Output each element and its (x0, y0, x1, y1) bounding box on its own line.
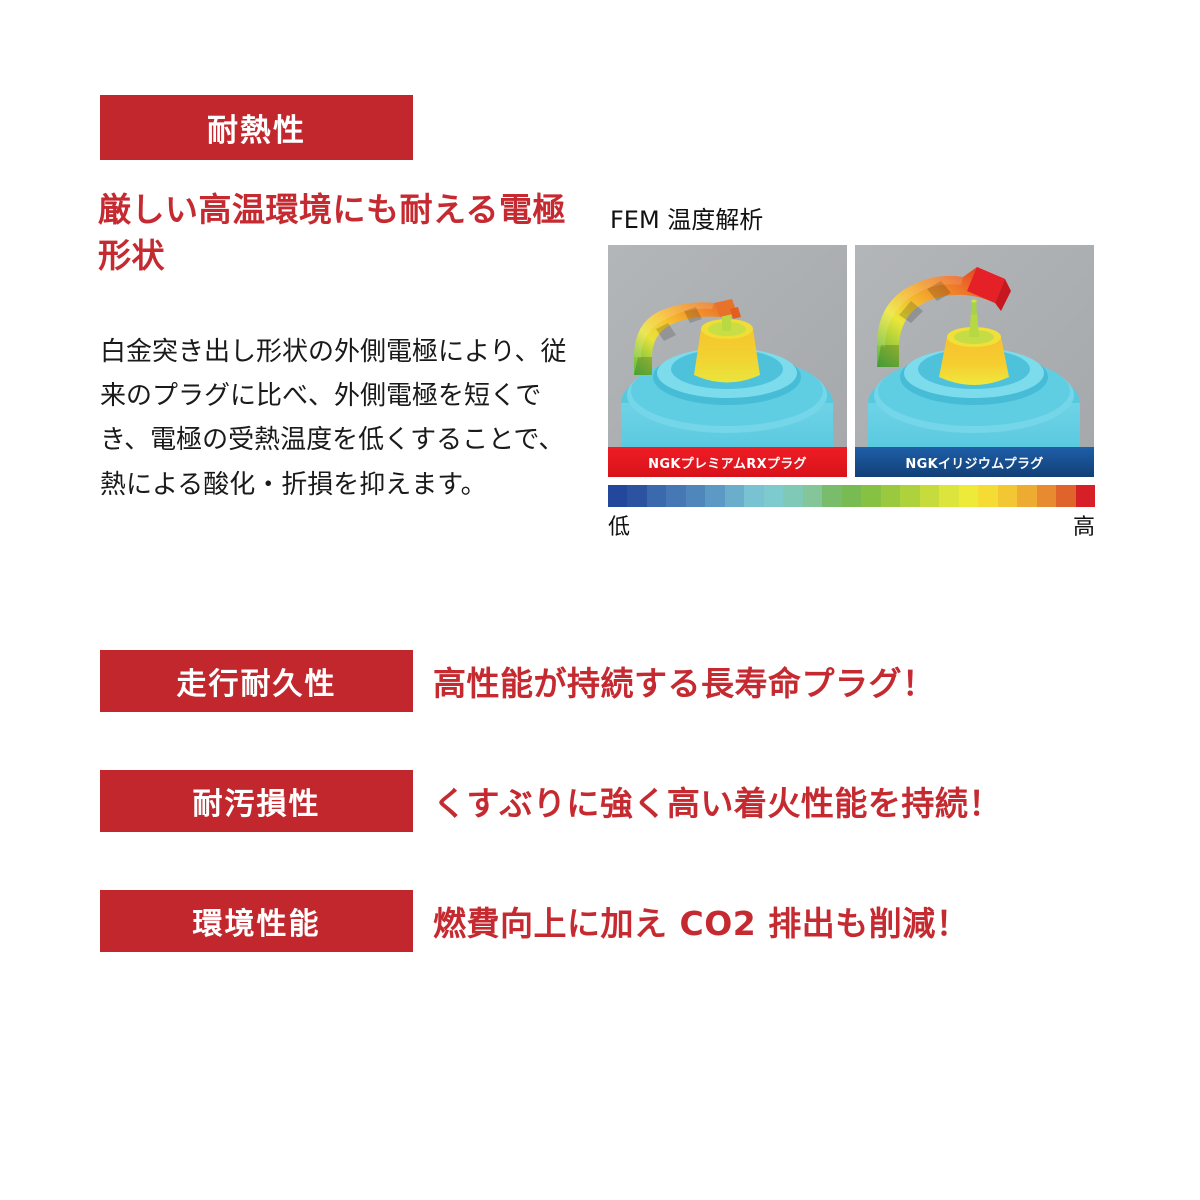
fem-scale-band-2 (647, 485, 666, 507)
page-root: 耐熱性 厳しい高温環境にも耐える電極形状 白金突き出し形状の外側電極により、従来… (0, 0, 1200, 1200)
fem-analysis-block: FEM 温度解析 (608, 200, 1095, 541)
feature-text-eco-performance: 燃費向上に加え CO2 排出も削減！ (433, 890, 969, 952)
fem-scale-band-7 (744, 485, 763, 507)
fem-scale-band-23 (1056, 485, 1075, 507)
fem-scale-band-15 (900, 485, 919, 507)
fem-scale-band-17 (939, 485, 958, 507)
fem-scale-band-10 (803, 485, 822, 507)
feature-row-durability: 走行耐久性 高性能が持続する長寿命プラグ！ (100, 650, 1100, 712)
feature-badge-fouling-resistance: 耐汚損性 (100, 770, 413, 832)
fem-panel-iridium: NGKイリジウムプラグ (855, 245, 1094, 477)
feature-badge-eco-performance: 環境性能 (100, 890, 413, 952)
fem-scale-band-12 (842, 485, 861, 507)
fem-scale-band-20 (998, 485, 1017, 507)
fem-scale-band-6 (725, 485, 744, 507)
fem-scale-label-high: 高 (1073, 509, 1095, 541)
fem-scale-labels: 低 高 (608, 509, 1095, 541)
feature-badge-durability: 走行耐久性 (100, 650, 413, 712)
fem-scale-band-14 (881, 485, 900, 507)
fem-scale-band-8 (764, 485, 783, 507)
fem-thermal-render-premium-rx (608, 245, 847, 477)
fem-scale-band-0 (608, 485, 627, 507)
fem-caption-premium-rx: NGKプレミアムRXプラグ (608, 447, 847, 477)
fem-scale-band-4 (686, 485, 705, 507)
fem-caption-iridium: NGKイリジウムプラグ (855, 447, 1094, 477)
fem-scale-band-11 (822, 485, 841, 507)
feature-text-durability: 高性能が持続する長寿命プラグ！ (433, 650, 936, 712)
fem-scale-band-21 (1017, 485, 1036, 507)
fem-scale-gradient-bar (608, 485, 1095, 507)
fem-scale-band-16 (920, 485, 939, 507)
fem-temperature-scale: 低 高 (608, 485, 1095, 541)
fem-scale-band-1 (627, 485, 646, 507)
section-body-copy: 白金突き出し形状の外側電極により、従来のプラグに比べ、外側電極を短くでき、電極の… (100, 330, 580, 507)
feature-row-eco-performance: 環境性能 燃費向上に加え CO2 排出も削減！ (100, 890, 1100, 952)
fem-scale-band-22 (1037, 485, 1056, 507)
fem-scale-label-low: 低 (608, 509, 630, 541)
fem-title: FEM 温度解析 (610, 200, 1095, 235)
fem-thermal-render-iridium (855, 245, 1094, 477)
fem-scale-band-24 (1076, 485, 1095, 507)
fem-panel-group: NGKプレミアムRXプラグ (608, 245, 1095, 477)
fem-scale-band-9 (783, 485, 802, 507)
fem-scale-band-5 (705, 485, 724, 507)
fem-scale-band-3 (666, 485, 685, 507)
fem-scale-band-19 (978, 485, 997, 507)
feature-row-fouling-resistance: 耐汚損性 くすぶりに強く高い着火性能を持続！ (100, 770, 1100, 832)
fem-scale-band-18 (959, 485, 978, 507)
body-copy-paragraph: 白金突き出し形状の外側電極により、従来のプラグに比べ、外側電極を短くでき、電極の… (100, 330, 580, 507)
feature-text-fouling-resistance: くすぶりに強く高い着火性能を持続！ (433, 770, 1002, 832)
fem-scale-band-13 (861, 485, 880, 507)
fem-panel-premium-rx: NGKプレミアムRXプラグ (608, 245, 847, 477)
section-lede-heading: 厳しい高温環境にも耐える電極形状 (98, 187, 568, 278)
section-badge-heat-resistance: 耐熱性 (100, 95, 413, 160)
